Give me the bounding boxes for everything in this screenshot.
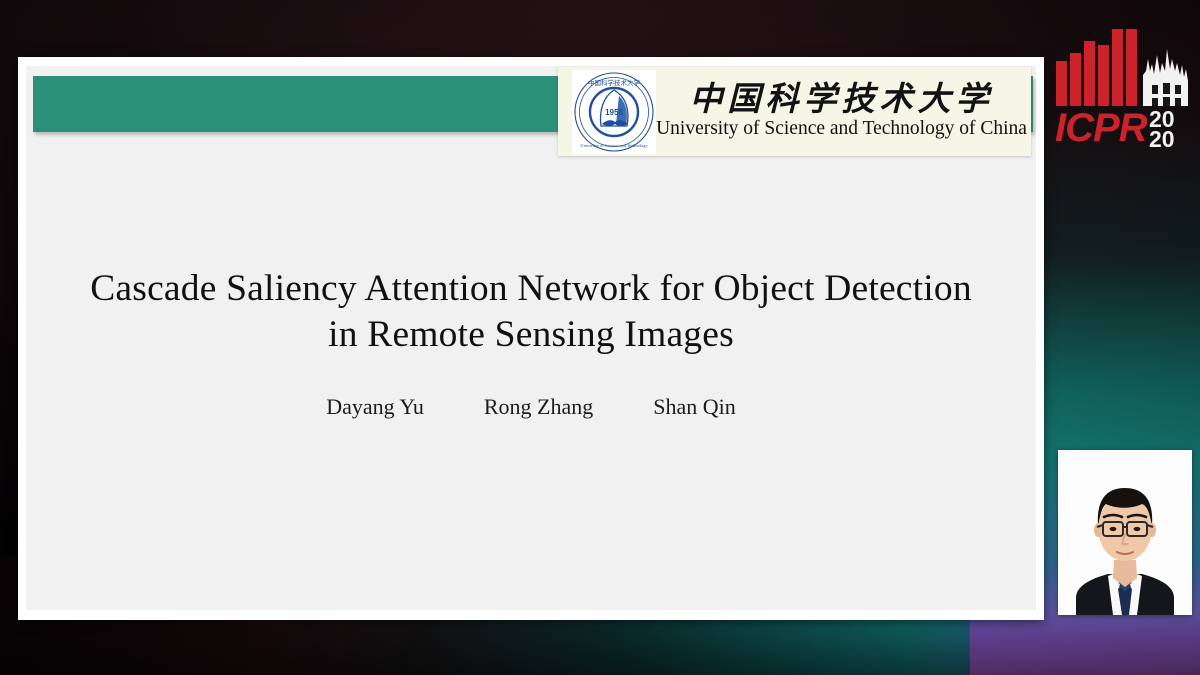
presenter-webcam[interactable] <box>1058 450 1192 615</box>
svg-text:1958: 1958 <box>605 108 623 117</box>
icpr-conference-logo: ICPR 20 20 <box>1051 19 1191 149</box>
affiliation-name-cn: 中国科学技术大学 <box>690 83 994 118</box>
ustc-seal-icon: 1958 中国科学技术大学 University of Science and … <box>572 70 656 154</box>
affiliation-name-en: University of Science and Technology of … <box>656 118 1027 140</box>
svg-text:ICPR: ICPR <box>1055 106 1148 149</box>
slide-title: Cascade Saliency Attention Network for O… <box>86 266 976 358</box>
slide-surface: 1958 中国科学技术大学 University of Science and … <box>26 66 1036 610</box>
svg-text:中国科学技术大学: 中国科学技术大学 <box>588 78 641 87</box>
affiliation-logo-block: 1958 中国科学技术大学 University of Science and … <box>558 67 1031 156</box>
slide-authors: Dayang Yu Rong Zhang Shan Qin <box>86 394 976 420</box>
author-name: Shan Qin <box>653 394 736 420</box>
author-name: Rong Zhang <box>484 394 593 420</box>
backdrop-bottom-shade <box>0 613 1200 675</box>
svg-text:University of Science and Tech: University of Science and Technology <box>580 143 648 148</box>
slide-frame: 1958 中国科学技术大学 University of Science and … <box>18 57 1044 620</box>
affiliation-text: 中国科学技术大学 University of Science and Techn… <box>656 83 1031 141</box>
presentation-video-frame: 1958 中国科学技术大学 University of Science and … <box>0 0 1200 675</box>
author-name: Dayang Yu <box>326 394 424 420</box>
svg-text:20: 20 <box>1149 126 1175 149</box>
